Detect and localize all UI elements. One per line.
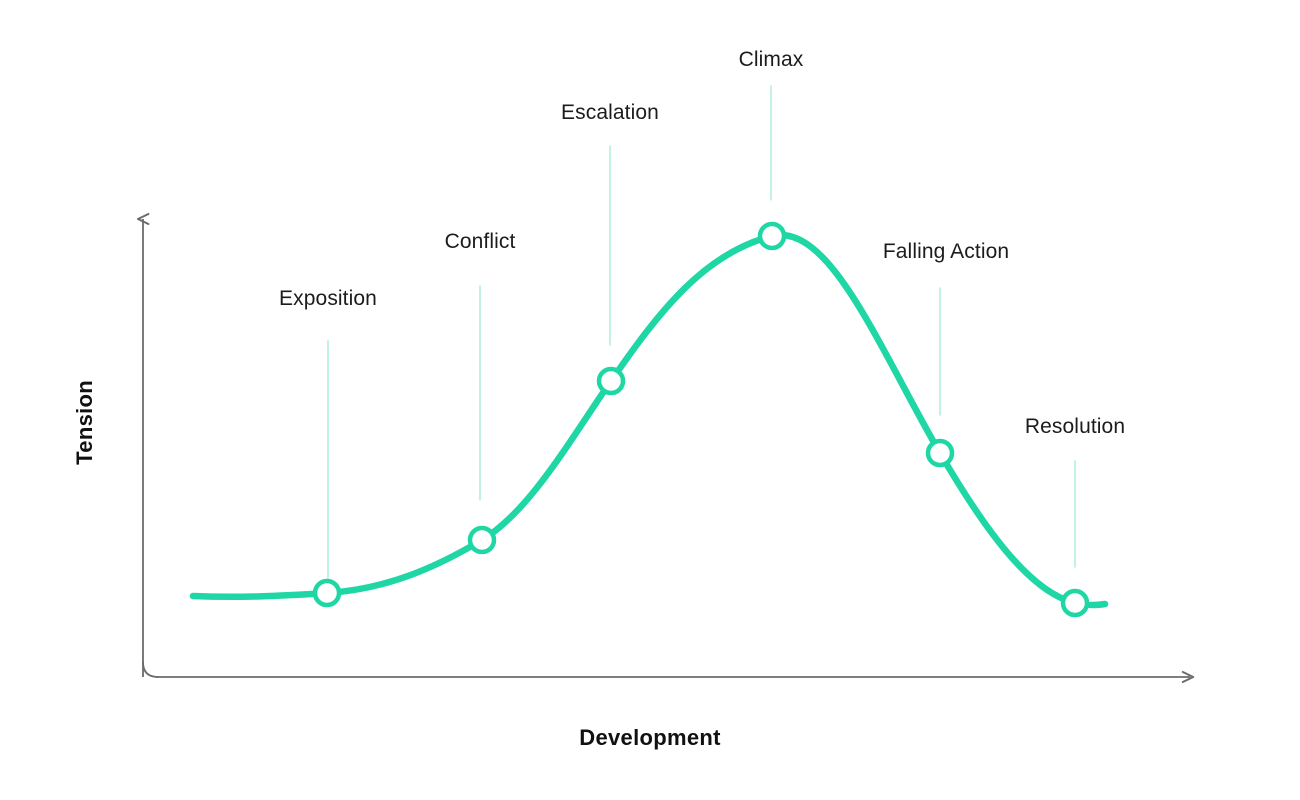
marker-climax[interactable] xyxy=(760,224,784,248)
label-exposition: Exposition xyxy=(279,288,377,309)
label-resolution: Resolution xyxy=(1025,416,1125,437)
axis-corner xyxy=(143,662,158,677)
label-escalation: Escalation xyxy=(561,102,659,123)
label-conflict: Conflict xyxy=(445,231,516,252)
marker-resolution[interactable] xyxy=(1063,591,1087,615)
label-climax: Climax xyxy=(739,49,804,70)
label-falling-action: Falling Action xyxy=(883,241,1009,262)
marker-escalation[interactable] xyxy=(599,369,623,393)
narrative-arc-diagram: ExpositionConflictEscalationClimaxFallin… xyxy=(0,0,1300,800)
y-axis-title: Tension xyxy=(74,380,96,465)
stage-point-markers xyxy=(315,224,1087,615)
x-axis-title: Development xyxy=(579,727,720,749)
marker-conflict[interactable] xyxy=(470,528,494,552)
marker-exposition[interactable] xyxy=(315,581,339,605)
marker-falling-action[interactable] xyxy=(928,441,952,465)
annotation-leader-lines xyxy=(328,86,1075,580)
